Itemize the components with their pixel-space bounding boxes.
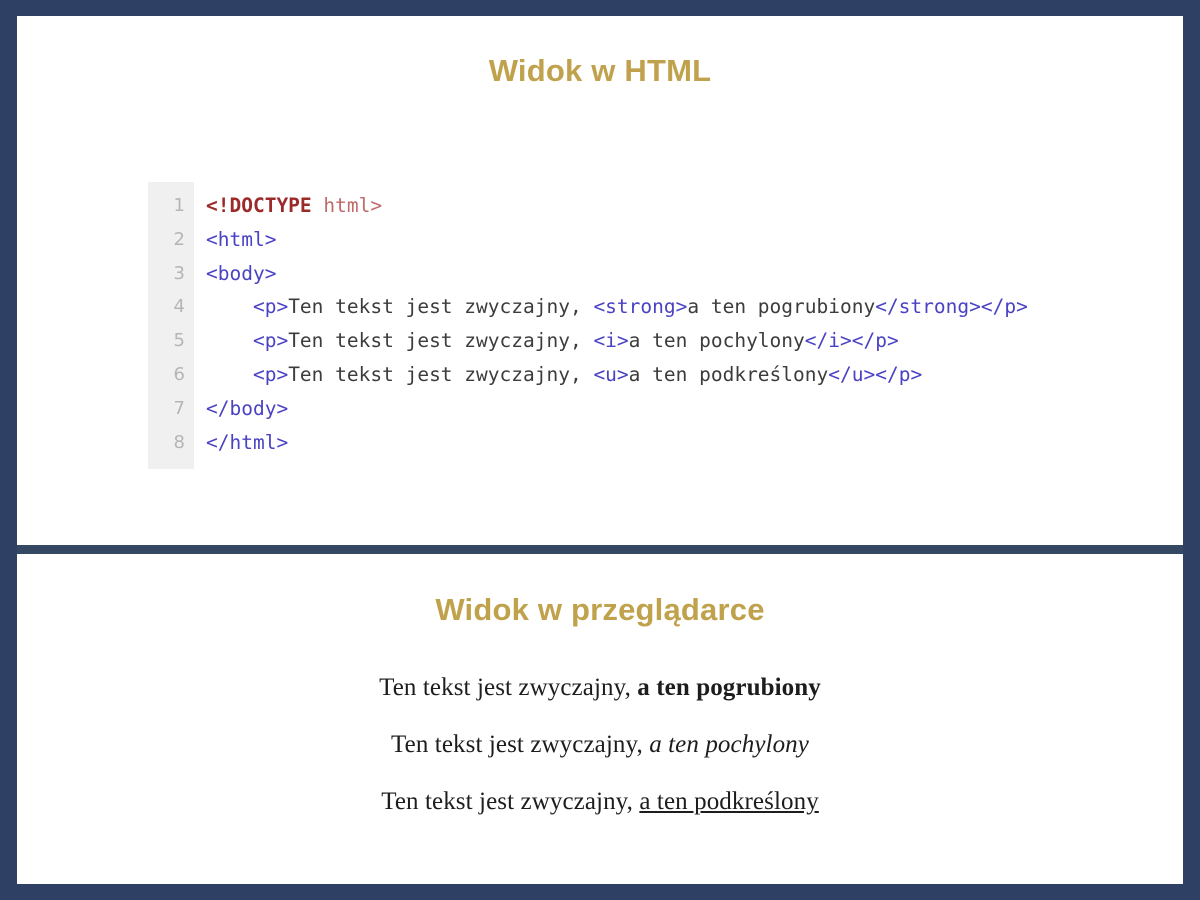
rendered-output: Ten tekst jest zwyczajny, a ten pogrubio… <box>17 674 1183 816</box>
code-token-text: a ten podkreślony <box>629 363 829 386</box>
code-token-text: Ten tekst jest zwyczajny, <box>288 363 593 386</box>
line-number: 1 <box>148 189 194 223</box>
code-token-text: Ten tekst jest zwyczajny, <box>288 295 593 318</box>
line-number: 8 <box>148 426 194 460</box>
rendered-plain-text: Ten tekst jest zwyczajny, <box>391 731 649 758</box>
code-token-text: a ten pochylony <box>629 329 805 352</box>
code-block: 12345678 <!DOCTYPE html><html><body> <p>… <box>148 182 1028 469</box>
code-token-text: a ten pogrubiony <box>687 295 875 318</box>
code-token-tag: <u> <box>593 363 628 386</box>
code-token-tag: </body> <box>206 397 288 420</box>
code-line: </body> <box>206 392 1028 426</box>
code-token-tag: <html> <box>206 228 276 251</box>
rendered-paragraph: Ten tekst jest zwyczajny, a ten pochylon… <box>17 731 1183 759</box>
line-number: 7 <box>148 392 194 426</box>
line-number: 4 <box>148 290 194 324</box>
rendered-paragraph: Ten tekst jest zwyczajny, a ten pogrubio… <box>17 674 1183 702</box>
code-lines: <!DOCTYPE html><html><body> <p>Ten tekst… <box>194 182 1028 469</box>
panel-divider <box>17 545 1183 554</box>
rendered-styled-text-italic: a ten pochylony <box>649 731 809 758</box>
code-token-doctype2: html> <box>323 194 382 217</box>
code-line: <p>Ten tekst jest zwyczajny, <strong>a t… <box>206 290 1028 324</box>
code-token-tag: </html> <box>206 431 288 454</box>
code-token-tag: <i> <box>593 329 628 352</box>
slide-root: Widok w HTML 12345678 <!DOCTYPE html><ht… <box>0 0 1200 900</box>
panel-stack: Widok w HTML 12345678 <!DOCTYPE html><ht… <box>17 16 1183 884</box>
code-token-tag: <p> <box>206 329 288 352</box>
browser-view-panel: Widok w przeglądarce Ten tekst jest zwyc… <box>17 554 1183 884</box>
code-line: <p>Ten tekst jest zwyczajny, <u>a ten po… <box>206 358 1028 392</box>
line-number-gutter: 12345678 <box>148 182 194 469</box>
line-number: 3 <box>148 257 194 291</box>
rendered-plain-text: Ten tekst jest zwyczajny, <box>381 788 639 815</box>
line-number: 5 <box>148 324 194 358</box>
code-line: <html> <box>206 223 1028 257</box>
code-line: </html> <box>206 426 1028 460</box>
rendered-plain-text: Ten tekst jest zwyczajny, <box>379 674 637 701</box>
browser-panel-title: Widok w przeglądarce <box>17 554 1183 625</box>
code-token-tag: </strong></p> <box>875 295 1028 318</box>
code-token-tag: <body> <box>206 262 276 285</box>
code-token-tag: </i></p> <box>805 329 899 352</box>
code-line: <body> <box>206 257 1028 291</box>
code-token-tag: <p> <box>206 295 288 318</box>
code-token-tag: <p> <box>206 363 288 386</box>
code-line: <p>Ten tekst jest zwyczajny, <i>a ten po… <box>206 324 1028 358</box>
line-number: 2 <box>148 223 194 257</box>
html-source-panel: Widok w HTML 12345678 <!DOCTYPE html><ht… <box>17 16 1183 545</box>
rendered-styled-text-bold: a ten pogrubiony <box>637 674 821 701</box>
code-line: <!DOCTYPE html> <box>206 189 1028 223</box>
rendered-paragraph: Ten tekst jest zwyczajny, a ten podkreśl… <box>17 788 1183 816</box>
html-panel-title: Widok w HTML <box>17 16 1183 86</box>
code-token-tag: </u></p> <box>828 363 922 386</box>
code-token-doctype: <!DOCTYPE <box>206 194 323 217</box>
rendered-styled-text-underline: a ten podkreślony <box>639 788 818 815</box>
code-token-text: Ten tekst jest zwyczajny, <box>288 329 593 352</box>
code-token-tag: <strong> <box>593 295 687 318</box>
line-number: 6 <box>148 358 194 392</box>
